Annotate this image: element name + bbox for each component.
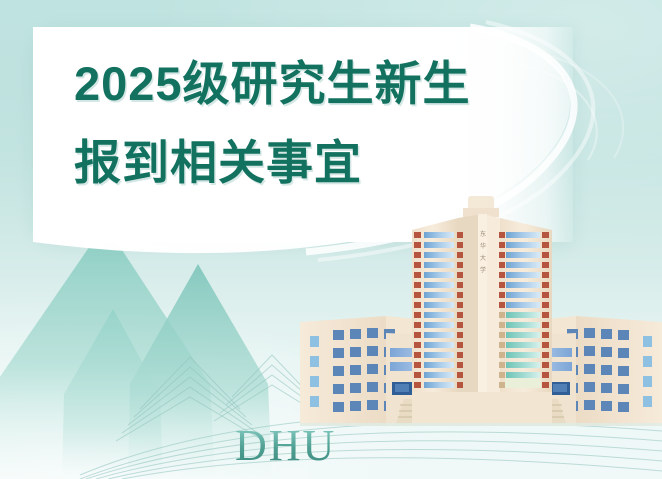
tower-name-label: 东 [480,230,486,238]
building-central-tower: 东 华 大 学 [412,196,552,426]
title-line-1: 2025级研究生新生 [74,58,471,110]
svg-text:大: 大 [480,254,486,262]
title-line-2: 报到相关事宜 [74,137,471,189]
svg-text:华: 华 [480,242,486,250]
poster-canvas: 2025级研究生新生 报到相关事宜 [0,0,662,479]
dhu-logo: DHU [235,424,336,468]
svg-text:学: 学 [480,266,486,274]
campus-building-illustration: 东 华 大 学 [300,196,662,426]
poster-title: 2025级研究生新生 报到相关事宜 [74,58,471,189]
